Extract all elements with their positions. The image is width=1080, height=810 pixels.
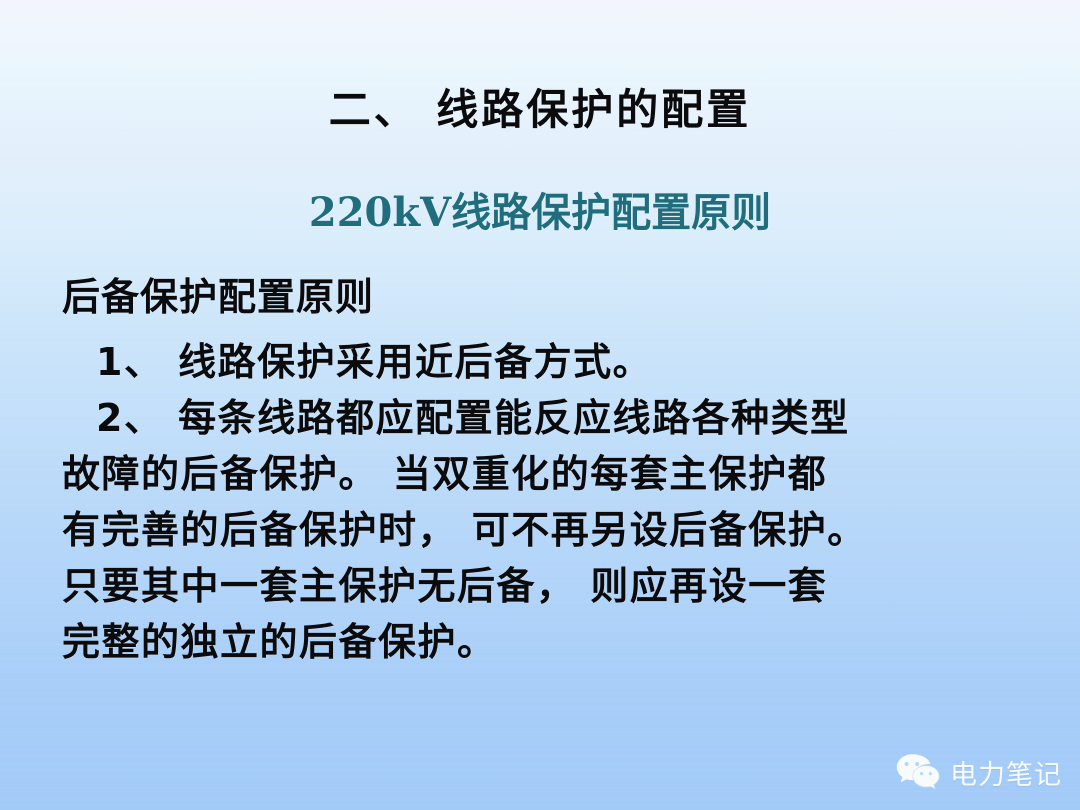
body-line-4: 有完善的后备保护时， 可不再另设后备保护。 (62, 502, 1030, 558)
body-line-1: 1、 线路保护采用近后备方式。 (62, 334, 1030, 390)
watermark-label: 电力笔记 (950, 753, 1062, 792)
body-line-5: 只要其中一套主保护无后备， 则应再设一套 (62, 558, 1030, 614)
page-subtitle: 220kV线路保护配置原则 (0, 180, 1080, 238)
wechat-icon (895, 752, 941, 792)
body-line-2: 2、 每条线路都应配置能反应线路各种类型 (62, 390, 1030, 446)
watermark: 电力笔记 (895, 752, 1062, 792)
slide-canvas: 二、 线路保护的配置 220kV线路保护配置原则 后备保护配置原则 1、 线路保… (0, 0, 1080, 810)
body-content: 后备保护配置原则 1、 线路保护采用近后备方式。 2、 每条线路都应配置能反应线… (62, 278, 1030, 670)
body-line-6: 完整的独立的后备保护。 (62, 614, 1030, 670)
section-heading: 后备保护配置原则 (62, 278, 1030, 316)
body-line-3: 故障的后备保护。 当双重化的每套主保护都 (62, 446, 1030, 502)
page-title: 二、 线路保护的配置 (0, 76, 1080, 137)
